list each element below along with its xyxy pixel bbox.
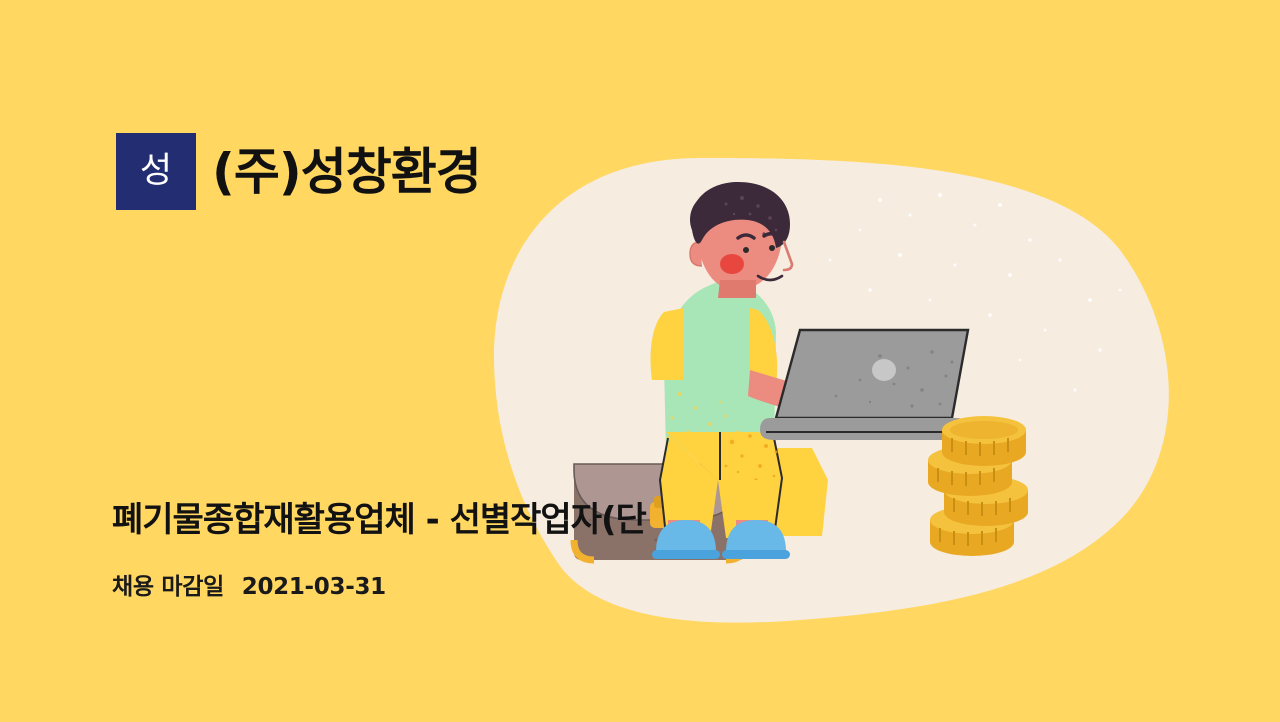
person-torso [651,280,778,452]
deadline-label: 채용 마감일 [112,574,224,600]
company-name: (주)성창환경 [212,147,481,197]
job-title: 폐기물종합재활용업체 - 선별작업자(단 [112,500,646,541]
job-posting-poster: 성 (주)성창환경 폐기물종합재활용업체 - 선별작업자(단 채용 마감일 20… [0,0,1280,722]
logo-badge-char: 성 [140,154,172,189]
laptop [760,330,968,440]
person-head [690,182,792,298]
company-logo-badge: 성 [116,133,196,210]
application-deadline: 채용 마감일 2021-03-31 [112,574,386,602]
coin-stack [928,416,1028,556]
deadline-date: 2021-03-31 [242,574,386,600]
poster-header: 성 (주)성창환경 [116,133,481,210]
